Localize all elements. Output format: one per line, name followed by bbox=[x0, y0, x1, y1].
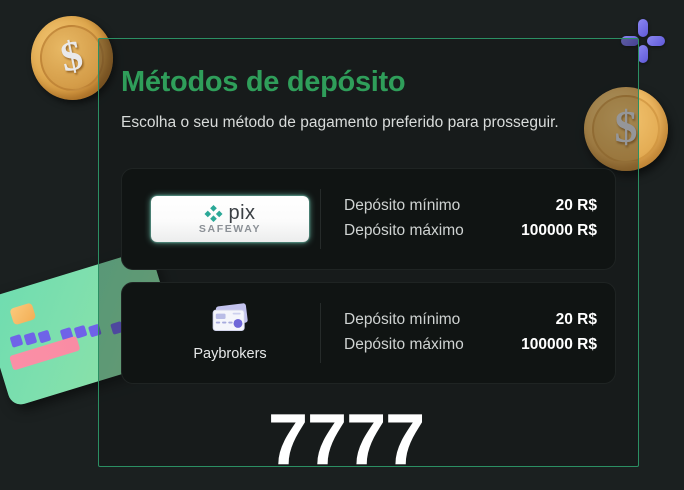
page-title: Métodos de depósito bbox=[121, 67, 616, 99]
pix-safeway-logo: pix SAFEWAY bbox=[151, 196, 309, 242]
card-magnetic-stripe bbox=[9, 336, 80, 371]
card-digit-block bbox=[24, 332, 38, 346]
coin-dollar-symbol: $ bbox=[57, 34, 86, 79]
pix-wordmark: pix bbox=[228, 203, 255, 223]
card-digit-block bbox=[60, 327, 74, 341]
limit-row: Depósito mínimo 20 R$ bbox=[344, 311, 597, 329]
limit-label-min: Depósito mínimo bbox=[344, 311, 460, 329]
pix-diamond-icon bbox=[204, 204, 223, 223]
limit-label-min: Depósito mínimo bbox=[344, 197, 460, 215]
paybrokers-card-icon bbox=[208, 303, 252, 335]
card-digit-block bbox=[10, 334, 24, 348]
limit-value-min: 20 R$ bbox=[556, 197, 597, 215]
safeway-wordmark: SAFEWAY bbox=[199, 224, 261, 235]
limit-value-min: 20 R$ bbox=[556, 311, 597, 329]
pix-deposit-limits: Depósito mínimo 20 R$ Depósito máximo 10… bbox=[321, 197, 597, 240]
limit-value-max: 100000 R$ bbox=[521, 222, 597, 240]
card-digit-block bbox=[74, 325, 88, 339]
plus-arm-right bbox=[647, 36, 665, 46]
paybrokers-label: Paybrokers bbox=[193, 346, 266, 362]
card-digit-block bbox=[38, 330, 52, 344]
limit-row: Depósito máximo 100000 R$ bbox=[344, 336, 597, 354]
limit-label-max: Depósito máximo bbox=[344, 336, 464, 354]
watermark-number: 7777 bbox=[268, 404, 424, 476]
limit-value-max: 100000 R$ bbox=[521, 336, 597, 354]
pix-logo-cell: pix SAFEWAY bbox=[140, 196, 320, 242]
limit-row: Depósito máximo 100000 R$ bbox=[344, 222, 597, 240]
card-chip-icon bbox=[9, 302, 36, 325]
paybrokers-logo-cell: Paybrokers bbox=[140, 303, 320, 362]
limit-row: Depósito mínimo 20 R$ bbox=[344, 197, 597, 215]
plus-arm-bottom bbox=[638, 45, 648, 63]
payment-method-pix-safeway[interactable]: pix SAFEWAY Depósito mínimo 20 R$ Depósi… bbox=[121, 168, 616, 270]
page-subtitle: Escolha o seu método de pagamento prefer… bbox=[121, 112, 565, 135]
paybrokers-deposit-limits: Depósito mínimo 20 R$ Depósito máximo 10… bbox=[321, 311, 597, 354]
payment-methods-list: pix SAFEWAY Depósito mínimo 20 R$ Depósi… bbox=[121, 168, 616, 384]
payment-method-paybrokers[interactable]: Paybrokers Depósito mínimo 20 R$ Depósit… bbox=[121, 282, 616, 384]
plus-arm-top bbox=[638, 19, 648, 37]
limit-label-max: Depósito máximo bbox=[344, 222, 464, 240]
